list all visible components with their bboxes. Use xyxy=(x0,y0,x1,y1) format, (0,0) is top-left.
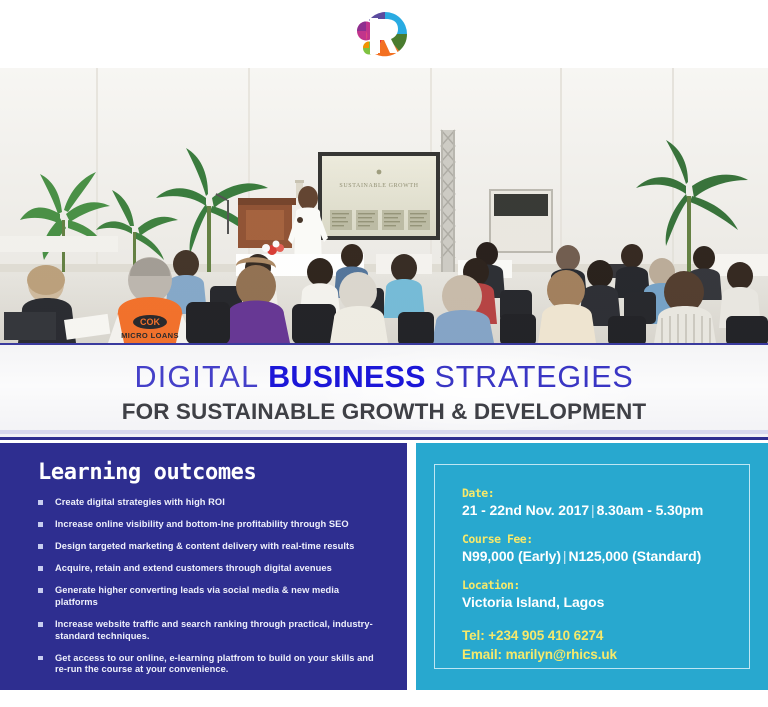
page-title: DIGITAL BUSINESS STRATEGIES xyxy=(0,362,768,393)
bullet-square-icon xyxy=(38,544,43,549)
learning-outcomes-heading: Learning outcomes xyxy=(38,460,256,485)
title-divider xyxy=(0,430,768,434)
bullet-square-icon xyxy=(38,522,43,527)
title-band: DIGITAL BUSINESS STRATEGIES FOR SUSTAINA… xyxy=(0,343,768,440)
event-details-border: Date: 21 - 22nd Nov. 2017|8.30am - 5.30p… xyxy=(434,464,750,669)
poster-flyer: SUSTAINABLE GROWTH xyxy=(0,0,768,707)
bullet-square-icon xyxy=(38,588,43,593)
location-label: Location: xyxy=(462,577,742,593)
list-item-label: Increase website traffic and search rank… xyxy=(55,619,373,641)
event-details-content: Date: 21 - 22nd Nov. 2017|8.30am - 5.30p… xyxy=(462,485,742,664)
bullet-square-icon xyxy=(38,656,43,661)
date-group: Date: 21 - 22nd Nov. 2017|8.30am - 5.30p… xyxy=(462,485,742,520)
list-item: Increase website traffic and search rank… xyxy=(38,619,383,642)
date-range: 21 - 22nd Nov. 2017 xyxy=(462,502,589,518)
date-separator: | xyxy=(589,502,597,518)
title-word-business: BUSINESS xyxy=(268,360,426,394)
bullet-square-icon xyxy=(38,500,43,505)
list-item: Generate higher converting leads via soc… xyxy=(38,585,383,608)
location-group: Location: Victoria Island, Lagos xyxy=(462,577,742,612)
fee-standard: N125,000 (Standard) xyxy=(568,548,701,564)
fee-label: Course Fee: xyxy=(462,531,742,547)
list-item: Create digital strategies with high ROI xyxy=(38,497,383,509)
list-item: Increase online visibility and bottom-ln… xyxy=(38,519,383,531)
fee-early: N99,000 (Early) xyxy=(462,548,561,564)
list-item-label: Create digital strategies with high ROI xyxy=(55,497,225,507)
contact-group: Tel: +234 905 410 6274 Email: marilyn@rh… xyxy=(462,626,742,664)
telephone-value[interactable]: Tel: +234 905 410 6274 xyxy=(462,626,742,645)
event-details-panel: Date: 21 - 22nd Nov. 2017|8.30am - 5.30p… xyxy=(416,443,768,690)
bottom-strip xyxy=(0,690,768,707)
date-value: 21 - 22nd Nov. 2017|8.30am - 5.30pm xyxy=(462,501,742,520)
location-value: Victoria Island, Lagos xyxy=(462,593,742,612)
fee-group: Course Fee: N99,000 (Early)|N125,000 (St… xyxy=(462,531,742,566)
title-word-strategies: STRATEGIES xyxy=(435,360,634,394)
rhics-logo-icon xyxy=(349,9,421,59)
logo-bar xyxy=(0,0,768,68)
list-item: Get access to our online, e-learning pla… xyxy=(38,653,383,676)
bullet-square-icon xyxy=(38,622,43,627)
list-item-label: Design targeted marketing & content deli… xyxy=(55,541,354,551)
date-time: 8.30am - 5.30pm xyxy=(597,502,704,518)
list-item-label: Acquire, retain and extend customers thr… xyxy=(55,563,332,573)
learning-outcomes-panel: Learning outcomes Create digital strateg… xyxy=(0,443,407,690)
date-label: Date: xyxy=(462,485,742,501)
list-item: Design targeted marketing & content deli… xyxy=(38,541,383,553)
list-item-label: Get access to our online, e-learning pla… xyxy=(55,653,374,675)
conference-photo: SUSTAINABLE GROWTH xyxy=(0,68,768,343)
learning-outcomes-list: Create digital strategies with high ROI … xyxy=(38,497,383,686)
fee-value: N99,000 (Early)|N125,000 (Standard) xyxy=(462,547,742,566)
page-subtitle: FOR SUSTAINABLE GROWTH & DEVELOPMENT xyxy=(0,401,768,424)
bullet-square-icon xyxy=(38,566,43,571)
list-item: Acquire, retain and extend customers thr… xyxy=(38,563,383,575)
list-item-label: Generate higher converting leads via soc… xyxy=(55,585,339,607)
list-item-label: Increase online visibility and bottom-ln… xyxy=(55,519,349,529)
email-value[interactable]: Email: marilyn@rhics.uk xyxy=(462,645,742,664)
title-word-digital: DIGITAL xyxy=(134,360,259,394)
